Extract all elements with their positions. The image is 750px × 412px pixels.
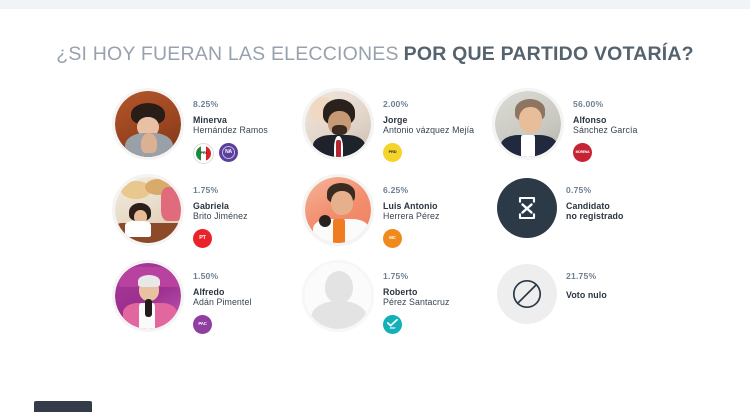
percentage: 0.75% bbox=[566, 185, 624, 195]
avatar bbox=[112, 88, 184, 160]
mc-label: MC bbox=[389, 236, 395, 240]
percentage: 6.25% bbox=[383, 185, 440, 195]
candidate-last-name: Sánchez García bbox=[573, 125, 637, 135]
candidate-card[interactable]: 1.75% Roberto Pérez Santacruz RSP bbox=[302, 260, 492, 346]
option-line-2: no registrado bbox=[566, 211, 624, 221]
candidate-info: 2.00% Jorge Antonio vázquez Mejía PRD bbox=[383, 88, 474, 162]
rsp-logo[interactable]: RSP bbox=[383, 315, 402, 334]
avatar bbox=[112, 174, 184, 246]
avatar bbox=[302, 174, 374, 246]
morena-logo[interactable]: MORENA bbox=[573, 143, 592, 162]
morena-label: MORENA bbox=[576, 151, 590, 154]
party-logos: PT bbox=[193, 229, 248, 248]
pac-label: PAC bbox=[198, 322, 206, 326]
option-label: Voto nulo bbox=[566, 290, 607, 300]
avatar bbox=[302, 88, 374, 160]
party-logos: MC bbox=[383, 229, 440, 248]
candidate-last-name: Herrera Pérez bbox=[383, 211, 440, 221]
candidate-first-name: Jorge bbox=[383, 115, 474, 125]
photo-alfonso bbox=[495, 91, 561, 157]
candidate-info: 56.00% Alfonso Sánchez García MORENA bbox=[573, 88, 637, 162]
unregistered-candidate-icon bbox=[497, 178, 557, 238]
candidate-info: 1.75% Gabriela Brito Jiménez PT bbox=[193, 174, 248, 248]
candidate-card[interactable]: 1.75% Gabriela Brito Jiménez PT bbox=[112, 174, 302, 260]
prd-logo[interactable]: PRD bbox=[383, 143, 402, 162]
candidate-card[interactable]: 8.25% Minerva Hernández Ramos PRI NA bbox=[112, 88, 302, 174]
candidate-info: 8.25% Minerva Hernández Ramos PRI NA bbox=[193, 88, 268, 164]
candidate-info: 6.25% Luis Antonio Herrera Pérez MC bbox=[383, 174, 440, 248]
party-logos: PRI NA bbox=[193, 143, 268, 164]
prd-label: PRD bbox=[389, 150, 397, 154]
pt-label: PT bbox=[199, 236, 206, 241]
party-logos: PRD bbox=[383, 143, 474, 162]
photo-minerva bbox=[115, 91, 181, 157]
candidate-grid: 8.25% Minerva Hernández Ramos PRI NA bbox=[112, 88, 692, 346]
candidate-last-name: Pérez Santacruz bbox=[383, 297, 450, 307]
bottom-progress-bar bbox=[34, 401, 92, 412]
option-line-1: Candidato bbox=[566, 201, 624, 211]
percentage: 1.75% bbox=[383, 271, 450, 281]
rsp-label: RSP bbox=[390, 327, 396, 330]
candidate-card[interactable]: 1.50% Alfredo Adán Pimentel PAC bbox=[112, 260, 302, 346]
candidate-info: 1.50% Alfredo Adán Pimentel PAC bbox=[193, 260, 252, 334]
candidate-first-name: Gabriela bbox=[193, 201, 248, 211]
photo-placeholder bbox=[305, 263, 371, 329]
candidate-first-name: Alfonso bbox=[573, 115, 637, 125]
percentage: 8.25% bbox=[193, 99, 268, 109]
photo-gabriela bbox=[115, 177, 181, 243]
mc-logo[interactable]: MC bbox=[383, 229, 402, 248]
top-strip bbox=[0, 0, 750, 9]
percentage: 1.50% bbox=[193, 271, 252, 281]
party-logos: MORENA bbox=[573, 143, 637, 162]
avatar bbox=[302, 260, 374, 332]
option-info: 21.75% Voto nulo bbox=[566, 260, 607, 300]
null-vote-card[interactable]: 21.75% Voto nulo bbox=[492, 260, 682, 346]
pri-label: PRI bbox=[200, 151, 206, 155]
headline-lead: ¿SI HOY FUERAN LAS ELECCIONES bbox=[56, 43, 398, 65]
null-vote-icon bbox=[497, 264, 557, 324]
party-logos: RSP bbox=[383, 315, 450, 334]
poll-results-poster: ¿SI HOY FUERAN LAS ELECCIONESPOR QUE PAR… bbox=[0, 9, 750, 412]
candidate-last-name: Brito Jiménez bbox=[193, 211, 248, 221]
candidate-card[interactable]: 56.00% Alfonso Sánchez García MORENA bbox=[492, 88, 682, 174]
percentage: 2.00% bbox=[383, 99, 474, 109]
candidate-last-name: Adán Pimentel bbox=[193, 297, 252, 307]
percentage: 21.75% bbox=[566, 271, 607, 281]
percentage: 1.75% bbox=[193, 185, 248, 195]
candidate-first-name: Minerva bbox=[193, 115, 268, 125]
candidate-info: 0.75% Candidato no registrado bbox=[566, 174, 624, 222]
candidate-first-name: Luis Antonio bbox=[383, 201, 440, 211]
percentage: 56.00% bbox=[573, 99, 637, 109]
avatar bbox=[492, 88, 564, 160]
pt-logo[interactable]: PT bbox=[193, 229, 212, 248]
candidate-card[interactable]: 6.25% Luis Antonio Herrera Pérez MC bbox=[302, 174, 492, 260]
pri-logo[interactable]: PRI bbox=[193, 143, 214, 164]
photo-luis bbox=[305, 177, 371, 243]
unregistered-candidate-card[interactable]: 0.75% Candidato no registrado bbox=[492, 174, 682, 260]
panal-logo[interactable]: NA bbox=[219, 143, 238, 162]
candidate-info: 1.75% Roberto Pérez Santacruz RSP bbox=[383, 260, 450, 334]
photo-jorge bbox=[305, 91, 371, 157]
candidate-card[interactable]: 2.00% Jorge Antonio vázquez Mejía PRD bbox=[302, 88, 492, 174]
page-title: ¿SI HOY FUERAN LAS ELECCIONESPOR QUE PAR… bbox=[0, 43, 750, 66]
candidate-first-name: Alfredo bbox=[193, 287, 252, 297]
panal-label: NA bbox=[225, 150, 232, 155]
party-logos: PAC bbox=[193, 315, 252, 334]
photo-alfredo bbox=[115, 263, 181, 329]
headline-strong: POR QUE PARTIDO VOTARÍA? bbox=[404, 43, 694, 65]
pac-logo[interactable]: PAC bbox=[193, 315, 212, 334]
candidate-last-name: Hernández Ramos bbox=[193, 125, 268, 135]
avatar bbox=[112, 260, 184, 332]
candidate-last-name: Antonio vázquez Mejía bbox=[383, 125, 474, 135]
candidate-first-name: Roberto bbox=[383, 287, 450, 297]
